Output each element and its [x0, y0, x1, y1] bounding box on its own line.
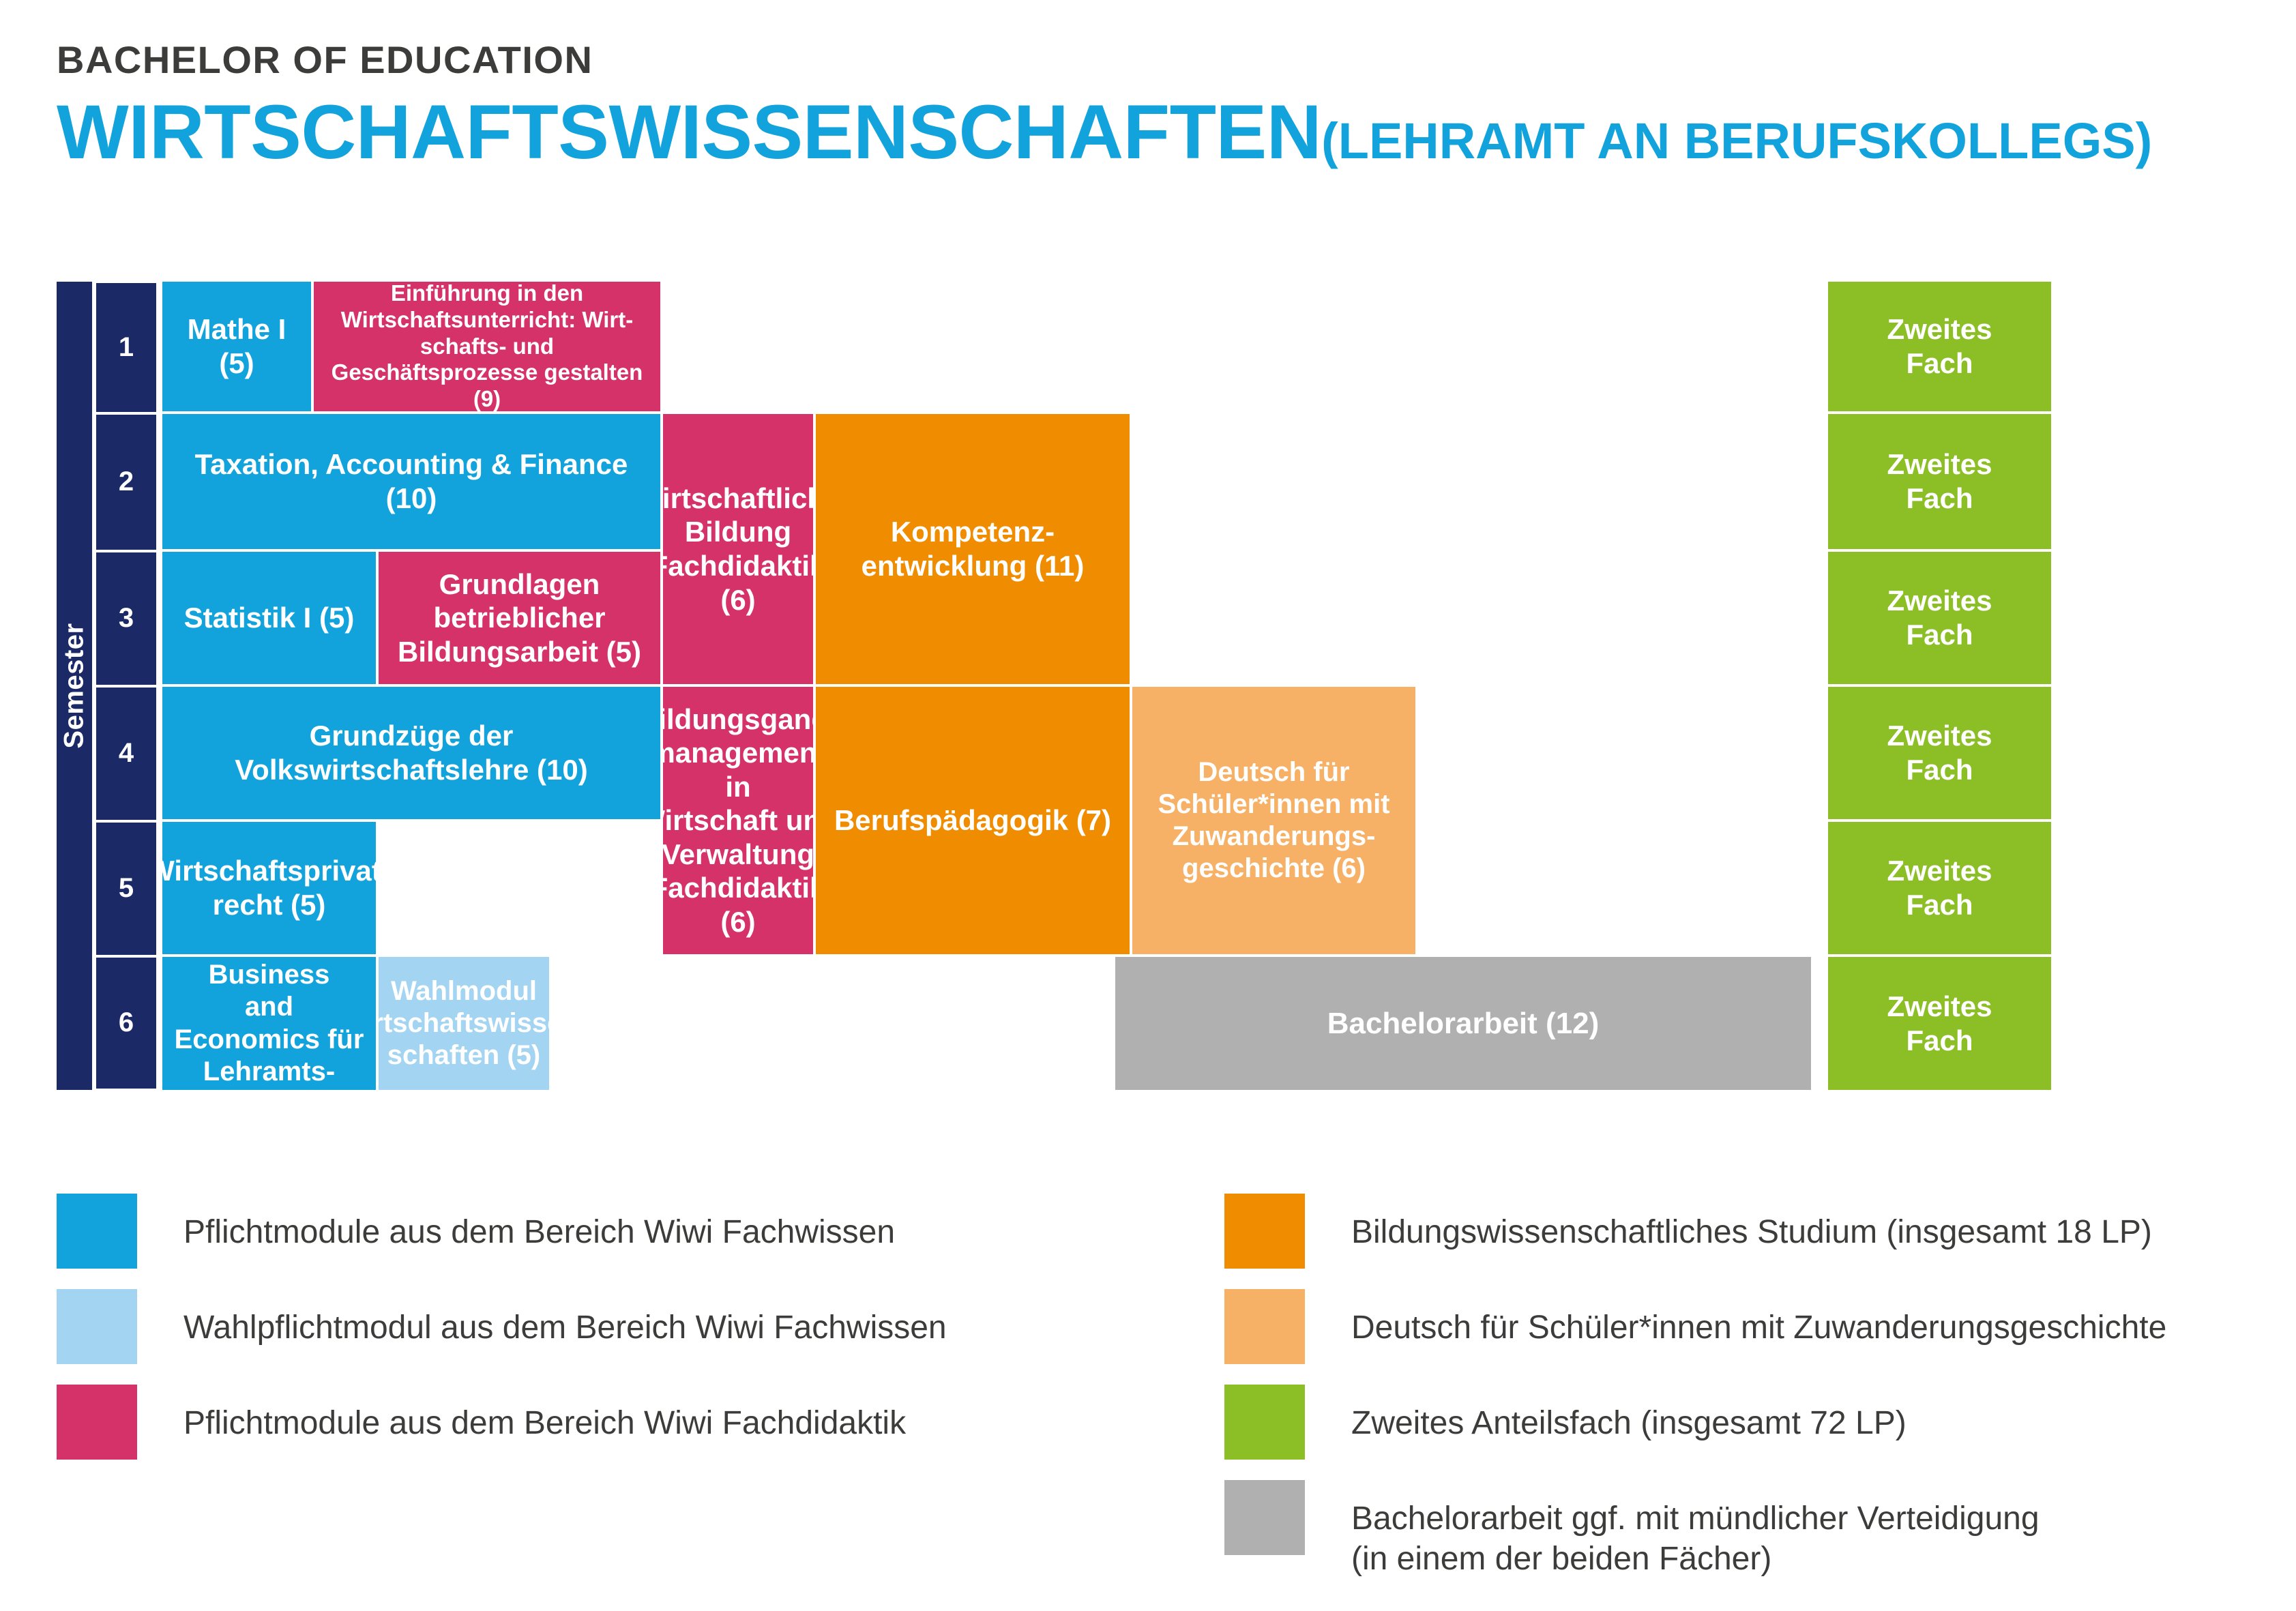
semester-number-6: 6 [95, 956, 158, 1090]
module-label: Zweites Fach [1887, 312, 1992, 380]
module-einfuehrung-wirtschaftsunterricht[interactable]: Einführung in den Wirtschaftsunterricht:… [314, 282, 660, 411]
module-label: Bildungsgang- management in Wirtschaft u… [663, 703, 813, 939]
module-zweites-fach-semester-2[interactable]: Zweites Fach [1828, 414, 2051, 549]
semester-number-1: 1 [95, 282, 158, 413]
semester-number-5: 5 [95, 821, 158, 956]
legend-swatch-daz [1224, 1289, 1305, 1364]
module-label: Kompetenz- entwicklung (11) [862, 515, 1085, 582]
module-label: Zweites Fach [1887, 584, 1992, 651]
module-label: Grundlagen betrieblicher Bildungsarbeit … [398, 567, 641, 669]
legend-swatch-zweites-anteilsfach [1224, 1385, 1305, 1460]
legend-item-daz: Deutsch für Schüler*innen mit Zuwanderun… [1224, 1289, 2296, 1385]
legend-label-bachelorarbeit: Bachelorarbeit ggf. mit mündlicher Verte… [1351, 1480, 2040, 1579]
semester-number-4: 4 [95, 686, 158, 821]
curriculum-matrix: Semester 1 2 3 4 5 6 Mathe I (5) Einführ… [57, 282, 2051, 1090]
legend-swatch-bildungswissenschaft [1224, 1194, 1305, 1269]
legend-label-wahlpflicht-fachwissen: Wahlpflichtmodul aus dem Bereich Wiwi Fa… [183, 1289, 947, 1348]
page-title-main: WIRTSCHAFTSWISSENSCHAFTEN [57, 89, 1321, 175]
module-zweites-fach-semester-1[interactable]: Zweites Fach [1828, 282, 2051, 411]
module-label: Mathe I (5) [169, 312, 304, 380]
module-label: Einführung in den Wirtschaftsunterricht:… [321, 282, 653, 411]
module-deutsch-zuwanderungsgeschichte[interactable]: Deutsch für Schüler*innen mit Zuwanderun… [1132, 687, 1415, 954]
module-studies-in-business-and-economics[interactable]: Studies in Business and Economics für Le… [162, 957, 376, 1090]
legend-column-left: Pflichtmodule aus dem Bereich Wiwi Fachw… [57, 1194, 1121, 1480]
module-label: Grundzüge der Volkswirtschaftslehre (10) [235, 719, 587, 786]
module-label: Zweites Fach [1887, 447, 1992, 515]
page-title-subtitle: (LEHRAMT AN BERUFSKOLLEGS) [1321, 113, 2152, 169]
module-grundlagen-betrieblicher-bildungsarbeit[interactable]: Grundlagen betrieblicher Bildungsarbeit … [379, 552, 660, 684]
module-label: Taxation, Accounting & Finance (10) [169, 447, 653, 515]
legend-swatch-pflicht-fachwissen [57, 1194, 137, 1269]
module-wirtschaftsprivatrecht[interactable]: Wirtschaftsprivat- recht (5) [162, 822, 376, 954]
module-wahlmodul-wirtschaftswissenschaften[interactable]: Wahlmodul Wirtschaftswissen- schaften (5… [379, 957, 549, 1090]
semester-number-2: 2 [95, 413, 158, 551]
module-label: Zweites Fach [1887, 854, 1992, 921]
legend-item-pflicht-fachdidaktik: Pflichtmodule aus dem Bereich Wiwi Fachd… [57, 1385, 1121, 1480]
module-wirtschaftliche-bildung-fachdidaktik[interactable]: Wirtschaftliche Bildung (Fachdidaktik) (… [663, 414, 813, 684]
module-statistik-1[interactable]: Statistik I (5) [162, 552, 376, 684]
legend-item-bachelorarbeit: Bachelorarbeit ggf. mit mündlicher Verte… [1224, 1480, 2296, 1596]
degree-type-label: BACHELOR OF EDUCATION [57, 41, 2239, 79]
module-bildungsgangmanagement[interactable]: Bildungsgang- management in Wirtschaft u… [663, 687, 813, 954]
module-kompetenzentwicklung[interactable]: Kompetenz- entwicklung (11) [816, 414, 1130, 684]
module-label: Statistik I (5) [184, 601, 355, 635]
module-zweites-fach-semester-5[interactable]: Zweites Fach [1828, 822, 2051, 954]
module-berufspaedagogik[interactable]: Berufspädagogik (7) [816, 687, 1130, 954]
module-zweites-fach-semester-3[interactable]: Zweites Fach [1828, 552, 2051, 684]
module-label: Wahlmodul Wirtschaftswissen- schaften (5… [379, 975, 549, 1072]
module-taxation-accounting-finance[interactable]: Taxation, Accounting & Finance (10) [162, 414, 660, 549]
page-header: BACHELOR OF EDUCATION WIRTSCHAFTSWISSENS… [57, 41, 2239, 171]
module-mathe-1[interactable]: Mathe I (5) [162, 282, 311, 411]
module-label: Bachelorarbeit (12) [1327, 1006, 1600, 1041]
module-zweites-fach-semester-4[interactable]: Zweites Fach [1828, 687, 2051, 819]
legend-label-pflicht-fachdidaktik: Pflichtmodule aus dem Bereich Wiwi Fachd… [183, 1385, 906, 1444]
legend-label-daz: Deutsch für Schüler*innen mit Zuwanderun… [1351, 1289, 2166, 1348]
legend-item-bildungswissenschaft: Bildungswissenschaftliches Studium (insg… [1224, 1194, 2296, 1289]
semester-axis-label: Semester [57, 282, 92, 1090]
legend-item-pflicht-fachwissen: Pflichtmodule aus dem Bereich Wiwi Fachw… [57, 1194, 1121, 1289]
semester-number-3: 3 [95, 551, 158, 686]
module-label: Berufspädagogik (7) [834, 803, 1111, 838]
legend-item-wahlpflicht-fachwissen: Wahlpflichtmodul aus dem Bereich Wiwi Fa… [57, 1289, 1121, 1385]
module-label: Deutsch für Schüler*innen mit Zuwanderun… [1158, 756, 1389, 885]
page-title: WIRTSCHAFTSWISSENSCHAFTEN(LEHRAMT AN BER… [57, 94, 2239, 171]
module-bachelorarbeit[interactable]: Bachelorarbeit (12) [1115, 957, 1811, 1090]
module-grundzuege-volkswirtschaftslehre[interactable]: Grundzüge der Volkswirtschaftslehre (10) [162, 687, 660, 819]
module-label: Wirtschaftliche Bildung (Fachdidaktik) (… [663, 482, 813, 617]
legend-column-right: Bildungswissenschaftliches Studium (insg… [1224, 1194, 2296, 1596]
legend-swatch-wahlpflicht-fachwissen [57, 1289, 137, 1364]
legend-swatch-bachelorarbeit [1224, 1480, 1305, 1555]
legend: Pflichtmodule aus dem Bereich Wiwi Fachw… [57, 1194, 2253, 1576]
legend-item-zweites-anteilsfach: Zweites Anteilsfach (insgesamt 72 LP) [1224, 1385, 2296, 1480]
module-label: Zweites Fach [1887, 719, 1992, 786]
semester-axis-text: Semester [59, 623, 90, 748]
legend-swatch-pflicht-fachdidaktik [57, 1385, 137, 1460]
legend-label-pflicht-fachwissen: Pflichtmodule aus dem Bereich Wiwi Fachw… [183, 1194, 895, 1253]
module-label: Studies in Business and Economics für Le… [169, 957, 369, 1090]
legend-label-bildungswissenschaft: Bildungswissenschaftliches Studium (insg… [1351, 1194, 2152, 1253]
module-label: Zweites Fach [1887, 990, 1992, 1057]
legend-label-zweites-anteilsfach: Zweites Anteilsfach (insgesamt 72 LP) [1351, 1385, 1907, 1444]
module-zweites-fach-semester-6[interactable]: Zweites Fach [1828, 957, 2051, 1090]
module-label: Wirtschaftsprivat- recht (5) [162, 854, 376, 921]
